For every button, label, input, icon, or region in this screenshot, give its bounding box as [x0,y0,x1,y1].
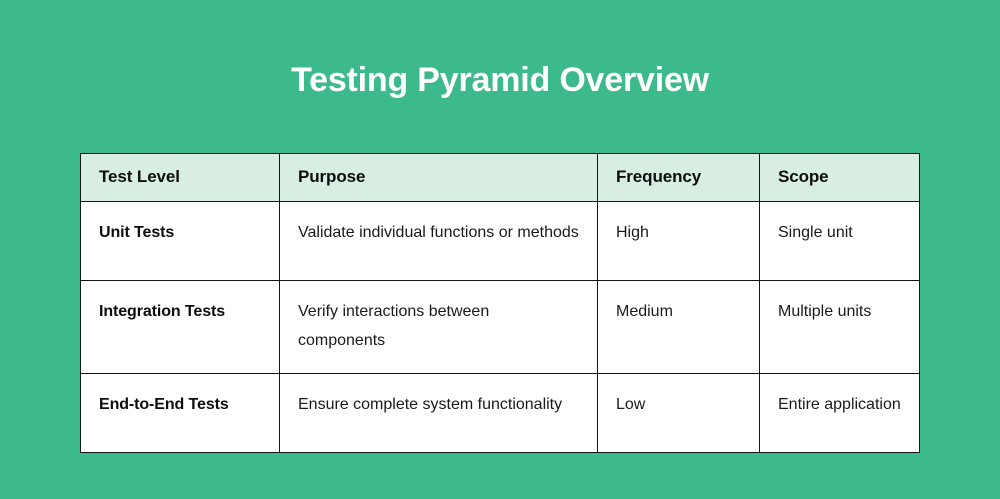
cell-purpose: Ensure complete system functionality [280,374,598,453]
table-row: End-to-End Tests Ensure complete system … [81,374,920,453]
cell-purpose: Verify interactions between components [280,281,598,374]
slide-canvas: Testing Pyramid Overview Test Level Purp… [0,0,1000,499]
table-header: Test Level Purpose Frequency Scope [81,154,920,202]
cell-test-level: Unit Tests [81,202,280,281]
cell-purpose: Validate individual functions or methods [280,202,598,281]
cell-frequency: Low [598,374,760,453]
table-header-row: Test Level Purpose Frequency Scope [81,154,920,202]
cell-frequency: High [598,202,760,281]
testing-pyramid-table-container: Test Level Purpose Frequency Scope Unit … [80,153,919,453]
cell-test-level: Integration Tests [81,281,280,374]
column-header-frequency: Frequency [598,154,760,202]
table-body: Unit Tests Validate individual functions… [81,202,920,453]
column-header-scope: Scope [760,154,920,202]
cell-scope: Entire application [760,374,920,453]
testing-pyramid-table: Test Level Purpose Frequency Scope Unit … [80,153,920,453]
cell-frequency: Medium [598,281,760,374]
cell-test-level: End-to-End Tests [81,374,280,453]
column-header-test-level: Test Level [81,154,280,202]
table-row: Unit Tests Validate individual functions… [81,202,920,281]
column-header-purpose: Purpose [280,154,598,202]
cell-scope: Single unit [760,202,920,281]
page-title: Testing Pyramid Overview [0,58,1000,102]
table-row: Integration Tests Verify interactions be… [81,281,920,374]
cell-scope: Multiple units [760,281,920,374]
